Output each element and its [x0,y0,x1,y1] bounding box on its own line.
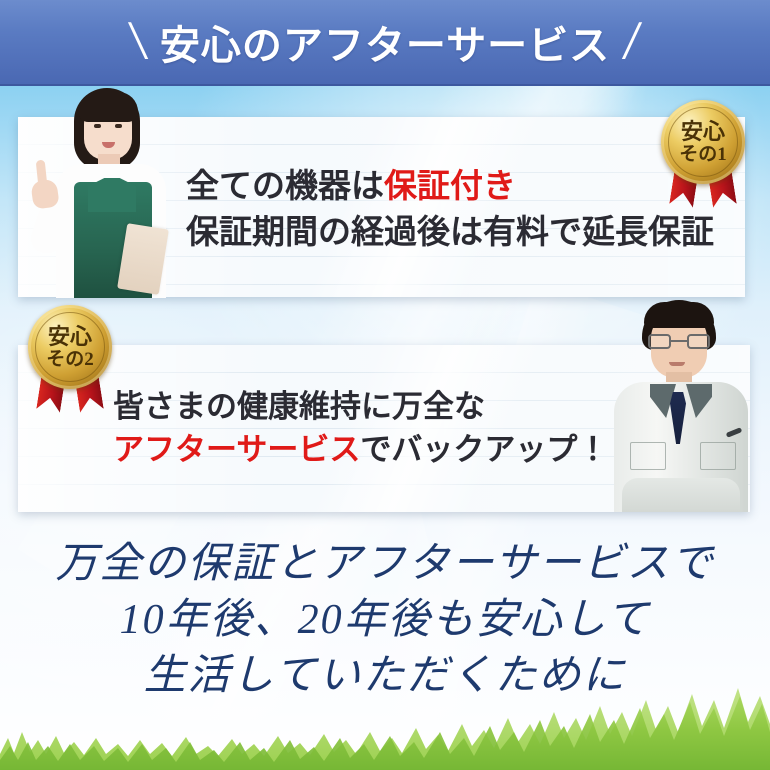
badge-2-top-label: 安心 [48,326,92,348]
page-title: 安心のアフターサービス [160,13,610,71]
mouth [669,362,685,366]
text-segment: でバックアップ！ [360,432,608,467]
closing-line-2: 10年後、20年後も安心して [0,593,770,649]
benefit-panel-2-line-2: アフターサービスでバックアップ！ [113,429,608,472]
eye-left [94,124,101,128]
closing-message: 万全の保証とアフターサービスで 10年後、20年後も安心して 生活していただくた… [0,537,770,705]
lens-right [687,334,710,349]
chest-pocket-right [700,442,736,470]
text-segment: 全ての機器は [186,167,384,204]
chest-pocket-left [630,442,666,470]
seal-badge-1: 安心 その1 [655,100,751,218]
closing-line-1: 万全の保証とアフターサービスで [0,537,770,593]
glasses-bridge [671,340,687,342]
highlight-segment: 保証付き [384,167,516,204]
badge-2-bottom-label: その2 [46,350,94,369]
eye-right [115,124,122,128]
highlight-segment: アフターサービス [113,432,360,467]
benefit-panel-2-line-1: 皆さまの健康維持に万全な [113,386,608,429]
crossed-arms [622,478,740,512]
header-inner: \ 安心のアフターサービス / [133,13,637,71]
badge-1-top-label: 安心 [681,121,725,143]
photo-woman-green-apron [30,86,190,298]
hair-front [644,302,714,328]
badge-1-bottom-label: その1 [679,145,727,164]
apron-bib [88,178,136,212]
seal-badge-2: 安心 その2 [22,305,118,423]
pointing-finger-icon [36,160,48,187]
header-bar: \ 安心のアフターサービス / [0,0,770,86]
text-segment: 保証期間の経過後は有料で延長保証 [186,213,714,250]
closing-line-3: 生活していただくために [0,649,770,705]
hair-front [78,92,138,122]
promo-banner: \ 安心のアフターサービス / 全ての機器は保証付き 保証期間の経過後は有料で延… [0,0,770,770]
benefit-panel-1-text: 全ての機器は保証付き 保証期間の経過後は有料で延長保証 [186,163,714,254]
forwardslash-mark: / [620,17,644,67]
photo-man-work-jacket [606,300,756,512]
benefit-panel-2-text: 皆さまの健康維持に万全な アフターサービスでバックアップ！ [113,386,608,472]
gold-medal-icon: 安心 その1 [661,100,745,184]
text-segment: 皆さまの健康維持に万全な [113,389,485,424]
benefit-panel-1-line-1: 全ての機器は保証付き [186,163,714,209]
lens-left [648,334,671,349]
backslash-mark: \ [127,17,151,67]
glasses-icon [648,334,710,349]
gold-medal-icon: 安心 その2 [28,305,112,389]
benefit-panel-1-line-2: 保証期間の経過後は有料で延長保証 [186,209,714,255]
